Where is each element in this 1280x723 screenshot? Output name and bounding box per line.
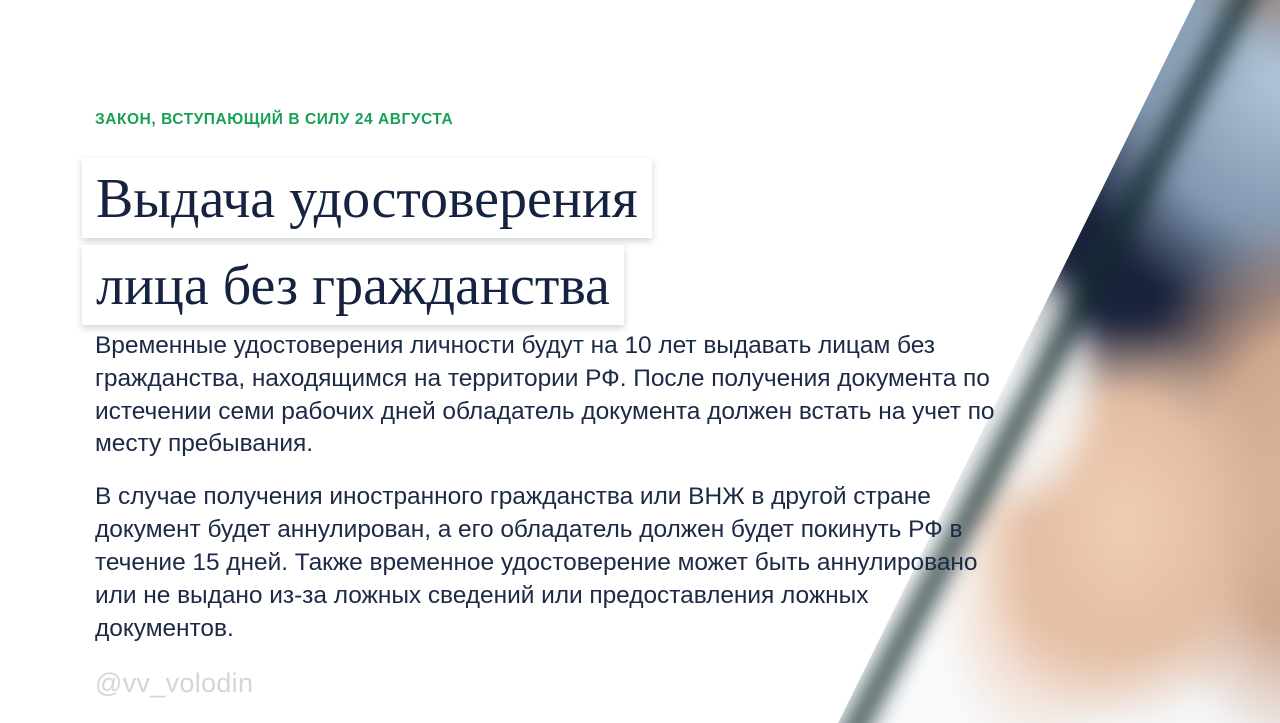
body-paragraph-1: Временные удостоверения личности будут н… bbox=[95, 330, 1000, 461]
headline-line-1: Выдача удостоверения bbox=[82, 158, 652, 238]
text-column: ЗАКОН, ВСТУПАЮЩИЙ В СИЛУ 24 АВГУСТА Выда… bbox=[82, 0, 1012, 723]
page-title: Выдача удостоверения лица без гражданств… bbox=[82, 158, 652, 332]
infographic-slide: ЗАКОН, ВСТУПАЮЩИЙ В СИЛУ 24 АВГУСТА Выда… bbox=[0, 0, 1280, 723]
body-text: Временные удостоверения личности будут н… bbox=[95, 330, 1000, 645]
headline-line-2: лица без гражданства bbox=[82, 245, 624, 325]
headline-row-2: лица без гражданства bbox=[82, 245, 652, 325]
eyebrow-label: ЗАКОН, ВСТУПАЮЩИЙ В СИЛУ 24 АВГУСТА bbox=[95, 111, 453, 129]
author-handle-watermark: @vv_volodin bbox=[95, 668, 253, 699]
headline-row-1: Выдача удостоверения bbox=[82, 158, 652, 238]
body-paragraph-2: В случае получения иностранного гражданс… bbox=[95, 481, 1000, 645]
